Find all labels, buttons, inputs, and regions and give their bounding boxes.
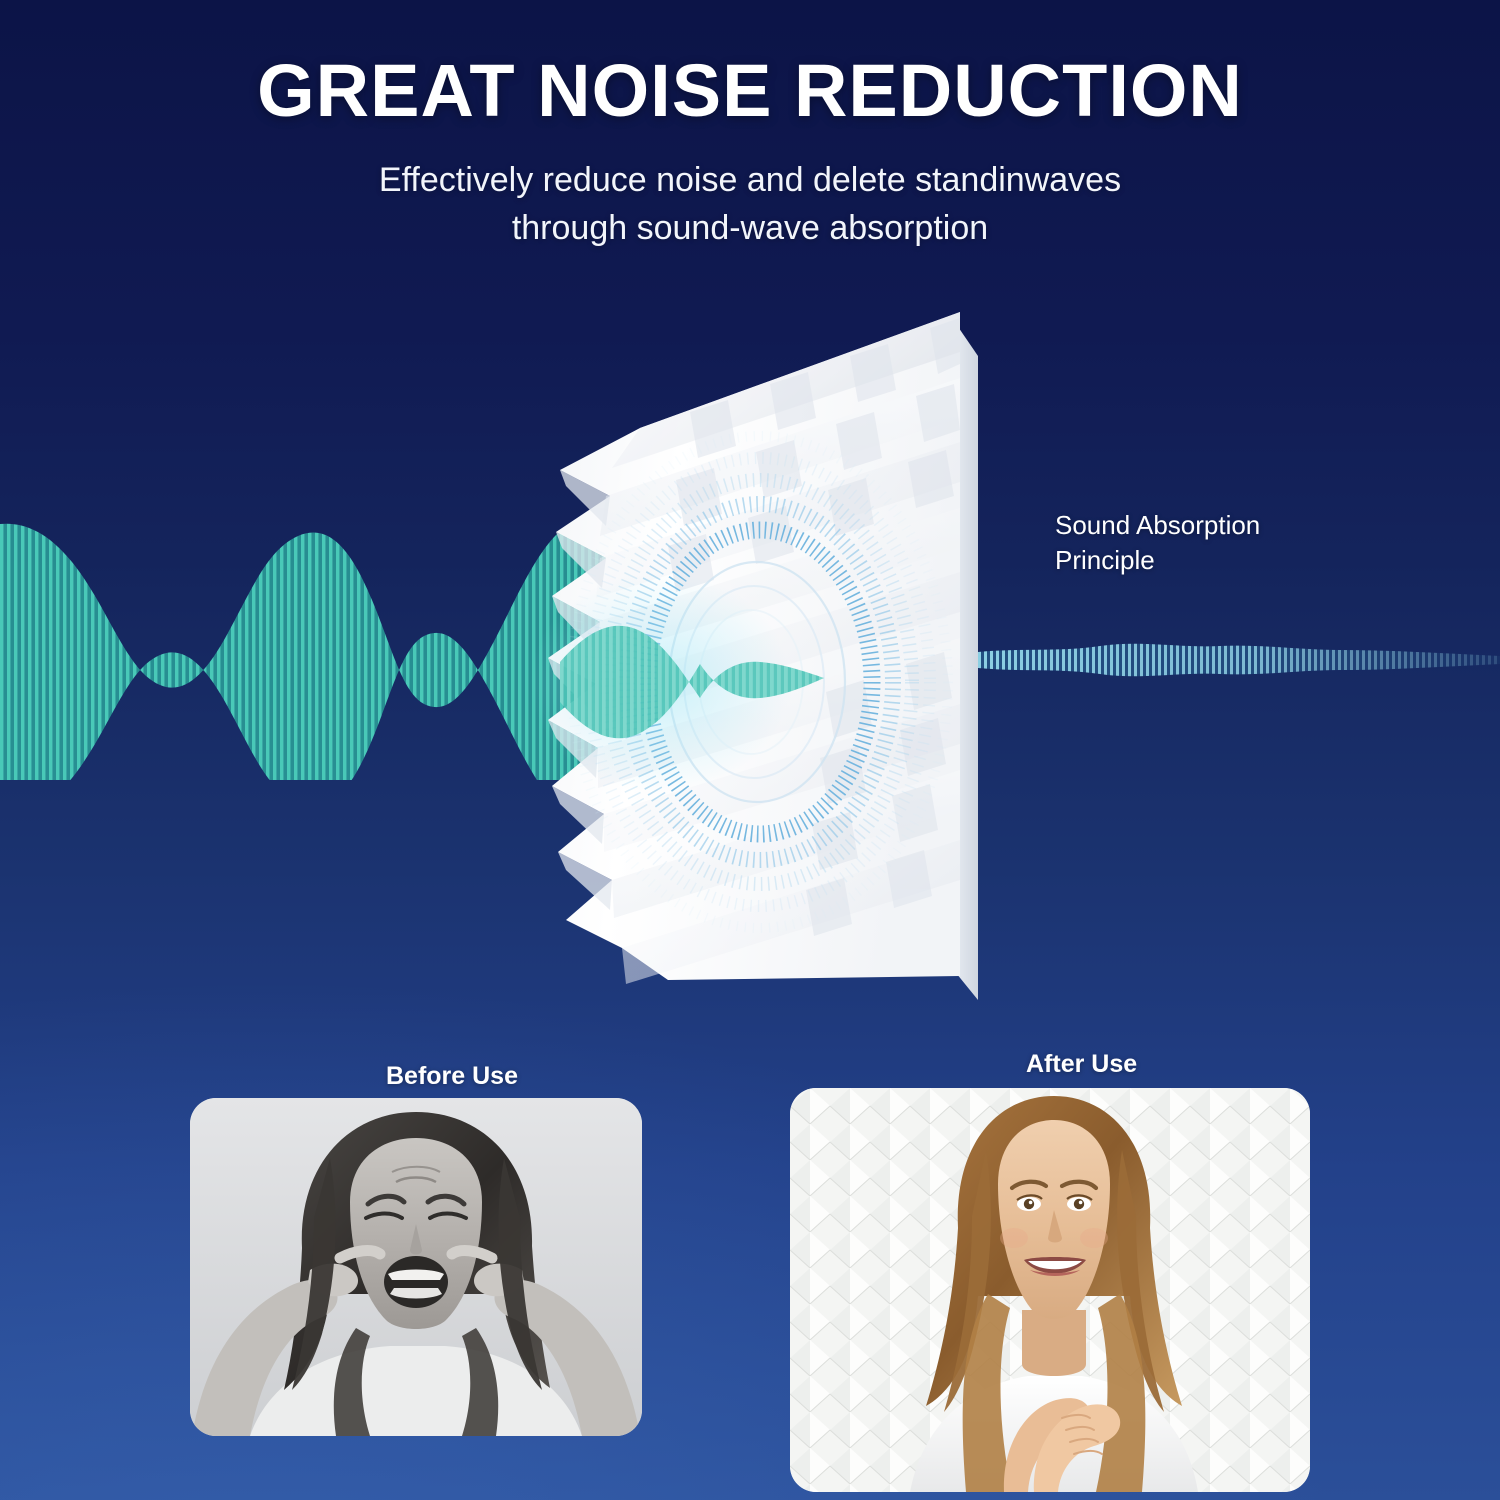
page-title: GREAT NOISE REDUCTION bbox=[0, 52, 1500, 130]
header: GREAT NOISE REDUCTION Effectively reduce… bbox=[0, 52, 1500, 252]
outgoing-attenuated-wave bbox=[970, 630, 1500, 690]
before-after-comparison: Before Use After Use bbox=[0, 1040, 1500, 1500]
before-use-photo-illustration bbox=[190, 1098, 642, 1436]
after-use-photo bbox=[790, 1088, 1310, 1492]
subtitle-line-2: through sound-wave absorption bbox=[0, 204, 1500, 252]
before-use-photo bbox=[190, 1098, 642, 1436]
before-use-caption: Before Use bbox=[386, 1062, 518, 1091]
subtitle-line-1: Effectively reduce noise and delete stan… bbox=[0, 156, 1500, 204]
page-subtitle: Effectively reduce noise and delete stan… bbox=[0, 156, 1500, 253]
after-use-caption: After Use bbox=[1026, 1050, 1137, 1079]
after-use-photo-illustration bbox=[790, 1088, 1310, 1492]
absorption-diagram bbox=[0, 300, 1500, 1040]
product-feature-graphic: GREAT NOISE REDUCTION Effectively reduce… bbox=[0, 0, 1500, 1500]
